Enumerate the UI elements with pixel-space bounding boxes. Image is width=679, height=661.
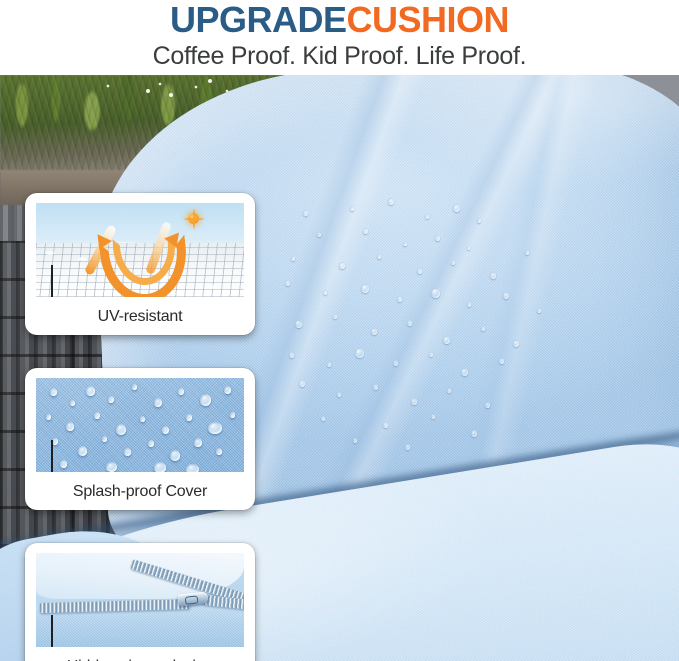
- sun-icon: [188, 213, 199, 224]
- title-word-upgrade: UPGRADE: [170, 0, 347, 40]
- uv-resistant-icon: [36, 203, 244, 297]
- feature-card-label: UV-resistant: [25, 306, 255, 328]
- product-feature-infographic: UPGRADECUSHION Coffee Proof. Kid Proof. …: [0, 0, 679, 661]
- splash-proof-icon: [36, 378, 244, 472]
- page-subtitle: Coffee Proof. Kid Proof. Life Proof.: [0, 40, 679, 72]
- feature-card-splash-proof[interactable]: Splash-proof Cover: [25, 368, 255, 510]
- header-banner: UPGRADECUSHION Coffee Proof. Kid Proof. …: [0, 0, 679, 75]
- feature-card-hidden-zipper[interactable]: Hidden zipper design: [25, 543, 255, 661]
- hero-photo: UV-resistant: [0, 75, 679, 661]
- measure-axis-vertical: [51, 265, 53, 297]
- feature-card-label: Splash-proof Cover: [25, 481, 255, 503]
- measure-axis-vertical: [51, 440, 53, 472]
- page-title: UPGRADECUSHION: [0, 0, 679, 40]
- hidden-zipper-icon: [36, 553, 244, 647]
- feature-card-label: Hidden zipper design: [25, 656, 255, 661]
- measure-axis-vertical: [51, 615, 53, 647]
- title-word-cushion: CUSHION: [347, 0, 510, 40]
- feature-card-uv-resistant[interactable]: UV-resistant: [25, 193, 255, 335]
